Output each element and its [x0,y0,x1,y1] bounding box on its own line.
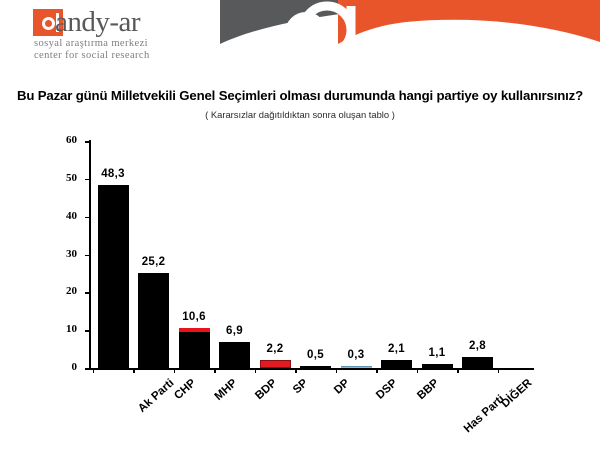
x-axis-label-ak-parti: Ak Parti [136,377,176,415]
y-tick-mark [85,217,91,219]
y-tick-label: 60 [51,134,77,146]
x-tick-mark [417,368,419,373]
bar-chp[interactable] [138,273,169,368]
bar-bdp[interactable] [219,342,250,368]
bar-highlight-cap [179,328,210,332]
x-tick-mark [214,368,216,373]
y-tick-label: 30 [51,248,77,260]
y-tick-label: 0 [51,361,77,373]
bar-value-label: 2,8 [453,340,503,352]
x-tick-mark [457,368,459,373]
bar-sp[interactable] [260,360,291,368]
y-tick-label: 20 [51,285,77,297]
y-tick-mark [85,255,91,257]
x-axis-label-di̇ğer: DİĞER [499,377,534,410]
y-tick-label: 40 [51,210,77,222]
x-tick-mark [336,368,338,373]
bar-dp[interactable] [300,366,331,369]
x-tick-mark [295,368,297,373]
bar-value-label: 25,2 [129,256,179,268]
bar-dsp[interactable] [341,366,372,369]
x-axis-label-bdp: BDP [253,377,279,402]
y-tick-mark [85,141,91,143]
bar-value-label: 48,3 [88,168,138,180]
x-tick-mark [174,368,176,373]
y-tick-label: 50 [51,172,77,184]
x-axis-label-sp: SP [291,377,310,396]
bar-bbp[interactable] [381,360,412,368]
bar-has-parti[interactable] [422,364,453,368]
x-axis-line [89,368,534,370]
bar-di̇ğer[interactable] [462,357,493,368]
x-axis-label-chp: CHP [172,377,198,402]
bar-value-label: 10,6 [169,311,219,323]
bar-chart: 0102030405060 48,325,210,66,92,20,50,32,… [0,0,600,450]
bar-ak-parti[interactable] [98,185,129,368]
x-axis-label-mhp: MHP [213,377,240,403]
x-tick-mark [93,368,95,373]
x-tick-mark [255,368,257,373]
y-tick-label: 10 [51,323,77,335]
y-tick-mark [85,292,91,294]
y-tick-mark [85,330,91,332]
x-axis-label-dp: DP [332,377,352,397]
x-axis-label-dsp: DSP [374,377,400,402]
x-tick-mark [133,368,135,373]
x-tick-mark [498,368,500,373]
bar-value-label: 6,9 [210,325,260,337]
y-tick-mark [85,368,91,370]
x-axis-label-bbp: BBP [415,377,441,402]
bar-mhp[interactable] [179,328,210,368]
x-tick-mark [376,368,378,373]
